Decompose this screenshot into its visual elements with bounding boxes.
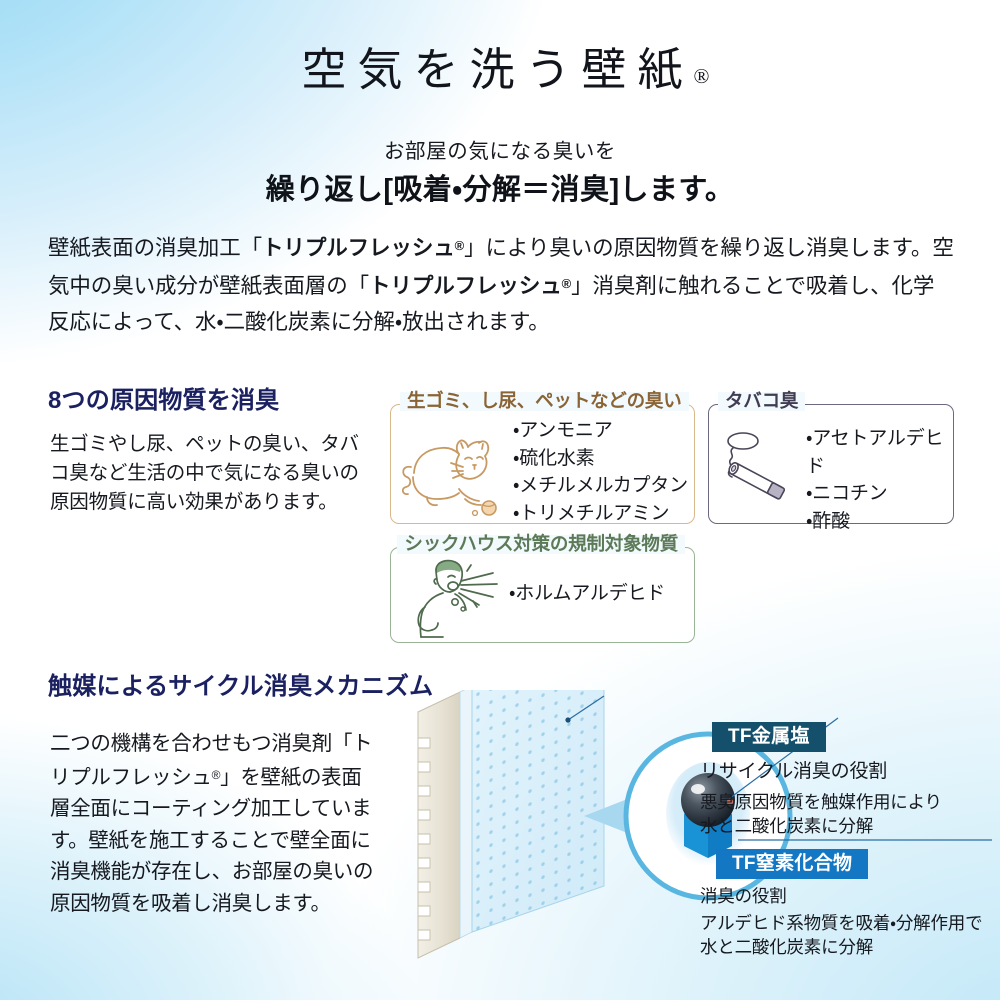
odor-box-organic-legend: 生ゴミ、し尿、ペットなどの臭い — [400, 392, 689, 411]
odor-box-sickhouse: シックハウス対策の規制対象物質 — [390, 547, 695, 643]
tf-metal-salt-description: 悪臭原因物質を触媒作用により水と二酸化炭素に分解 — [700, 790, 942, 838]
tf-nitro-desc-line2: 水と二酸化炭素に分解 — [700, 937, 873, 957]
badge-tf-metal-salt: TF金属塩 — [712, 722, 826, 752]
intro-brand-1: トリプルフレッシュ — [262, 236, 455, 260]
list-item: 酢酸 — [806, 508, 953, 536]
list-item: メチルメルカプタン — [513, 472, 688, 500]
masthead: 空気を洗う壁紙® お部屋の気になる臭いを 繰り返し[吸着・分解＝消臭]します。 — [0, 0, 1000, 222]
odor-section-heading: 8つの原因物質を消臭 — [48, 389, 279, 413]
list-item: ホルムアルデヒド — [509, 580, 665, 608]
list-item: アセトアルデヒド — [806, 425, 953, 480]
tf-metal-desc-line2: 水と二酸化炭素に分解 — [700, 816, 873, 836]
tf-metal-desc-line1: 悪臭原因物質を触媒作用により — [700, 792, 942, 812]
odor-box-tobacco-list: アセトアルデヒド ニコチン 酢酸 — [806, 425, 953, 535]
badge-tf-nitrogen-compound: TF窒素化合物 — [716, 849, 868, 879]
coughing-person-icon — [403, 553, 503, 639]
intro-paragraph: 壁紙表面の消臭加工「トリプルフレッシュ®」により臭いの原因物質を繰り返し消臭しま… — [48, 228, 954, 340]
page-title: 空気を洗う壁紙® — [0, 48, 1000, 93]
intro-brand-2: トリプルフレッシュ — [369, 274, 562, 298]
odor-box-sickhouse-list: ホルムアルデヒド — [509, 580, 665, 608]
infographic-page: 空気を洗う壁紙® お部屋の気になる臭いを 繰り返し[吸着・分解＝消臭]します。 … — [0, 0, 1000, 1000]
intro-text-a: 壁紙表面の消臭加工「 — [48, 236, 262, 260]
registered-trademark-icon: ® — [694, 64, 710, 88]
tf-nitrogen-role: 消臭の役割 — [700, 888, 787, 906]
brand-title-text: 空気を洗う壁紙 — [302, 45, 694, 95]
wallpaper-slab — [418, 690, 604, 958]
odor-section-body: 生ゴミやし尿、ペットの臭い、タバコ臭など生活の中で気になる臭いの原因物質に高い効… — [50, 430, 365, 517]
list-item: 硫化水素 — [513, 445, 688, 473]
odor-box-tobacco-legend: タバコ臭 — [718, 392, 805, 411]
lead-line: お部屋の気になる臭いを — [0, 142, 1000, 163]
odor-box-tobacco: タバコ臭 アセトアルデヒド ニコチン 酢酸 — [708, 404, 954, 524]
odor-box-organic-list: アンモニア 硫化水素 メチルメルカプタン トリメチルアミン — [513, 417, 688, 527]
cat-icon — [397, 421, 509, 517]
tf-metal-salt-role: リサイクル消臭の役割 — [700, 762, 887, 781]
tf-nitro-desc-line1: アルデヒド系物質を吸着・分解作用で — [700, 913, 982, 933]
mechanism-section-body: 二つの機構を合わせもつ消臭剤「トリプルフレッシュ®」を壁紙の表面層全面にコーティ… — [50, 728, 380, 919]
list-item: ニコチン — [806, 480, 953, 508]
registered-trademark-icon: ® — [212, 768, 221, 782]
list-item: トリメチルアミン — [513, 500, 688, 528]
tf-nitrogen-description: アルデヒド系物質を吸着・分解作用で水と二酸化炭素に分解 — [700, 911, 982, 959]
mechanism-section-heading: 触媒によるサイクル消臭メカニズム — [48, 675, 433, 699]
odor-box-sickhouse-legend: シックハウス対策の規制対象物質 — [397, 535, 685, 554]
registered-trademark-icon: ® — [455, 238, 464, 253]
registered-trademark-icon: ® — [562, 276, 571, 291]
cigarette-icon — [717, 429, 805, 505]
odor-box-organic: 生ゴミ、し尿、ペットなどの臭い — [390, 404, 695, 524]
lead-headline: 繰り返し[吸着・分解＝消臭]します。 — [0, 172, 1000, 208]
list-item: アンモニア — [513, 417, 688, 445]
